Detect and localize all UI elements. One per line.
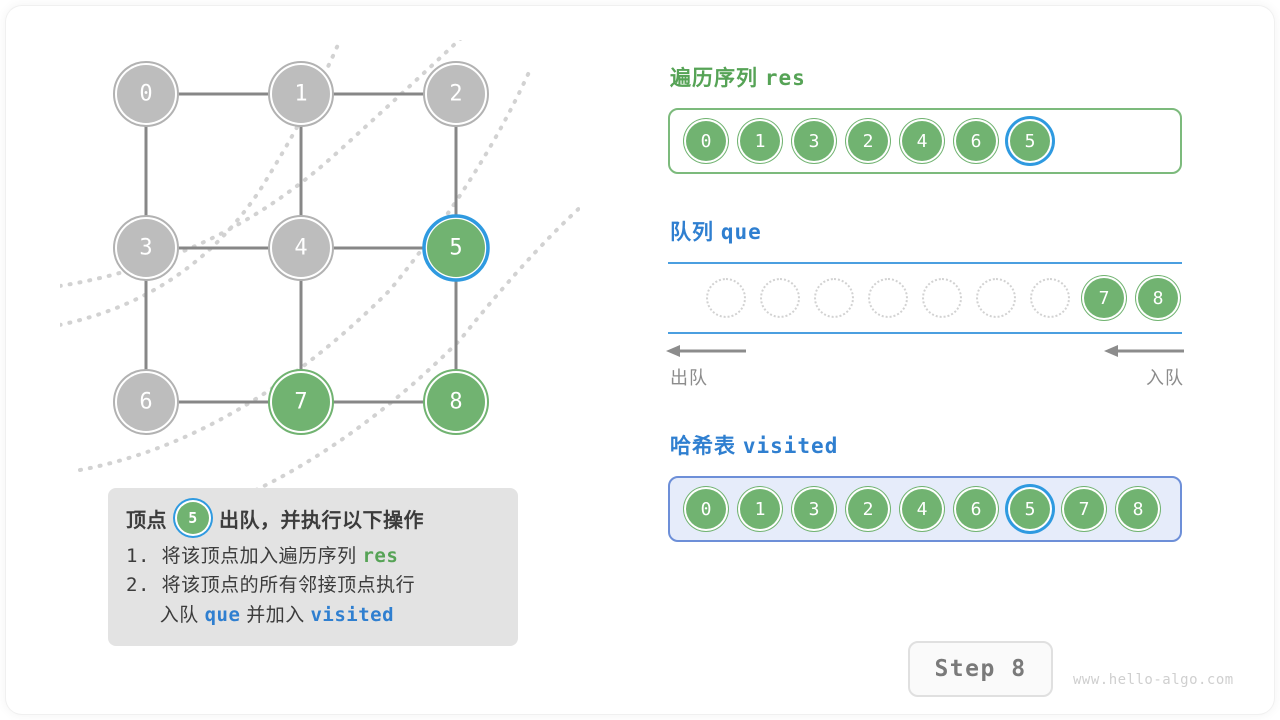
node-chip: 5 bbox=[1010, 121, 1050, 161]
node-chip: 1 bbox=[740, 121, 780, 161]
visited-title-code: visited bbox=[743, 434, 839, 458]
caption-step-2-text: 将该顶点的所有邻接顶点执行 bbox=[162, 575, 416, 596]
node-label: 7 bbox=[294, 390, 307, 415]
arrow-left-icon bbox=[1102, 342, 1186, 360]
caption-step-2: 2. 将该顶点的所有邻接顶点执行 bbox=[126, 571, 500, 600]
queue-section: 队列 que 78 出队 入队 bbox=[668, 216, 1182, 394]
caption-step-2-index: 2. bbox=[126, 574, 150, 596]
node-label: 0 bbox=[139, 82, 152, 107]
queue-empty-slot bbox=[922, 278, 962, 318]
node-label: 2 bbox=[449, 82, 462, 107]
caption-step-2-line2-middle: 并加入 bbox=[246, 605, 305, 626]
graph-node-7: 7 bbox=[269, 370, 333, 434]
arrow-left-icon bbox=[664, 342, 748, 360]
node-chip: 2 bbox=[848, 489, 888, 529]
queue-container: 78 bbox=[668, 262, 1182, 334]
node-chip: 0 bbox=[686, 489, 726, 529]
node-chip: 6 bbox=[956, 489, 996, 529]
page-root: 012345678 顶点 5 出队，并执行以下操作 1. 将该顶点加入遍历序列 … bbox=[0, 0, 1280, 720]
enqueue-label: 入队 bbox=[1096, 364, 1186, 390]
node-chip: 3 bbox=[794, 121, 834, 161]
graph-node-5: 5 bbox=[424, 216, 488, 280]
visited-section-title: 哈希表 visited bbox=[670, 430, 1182, 460]
node-label: 6 bbox=[139, 390, 152, 415]
caption-step-2-line2: 入队 que 并加入 visited bbox=[126, 601, 500, 630]
caption-head-suffix: 出队，并执行以下操作 bbox=[219, 504, 424, 533]
node-chip: 7 bbox=[1084, 278, 1124, 318]
res-title-text: 遍历序列 bbox=[670, 67, 758, 90]
node-label: 3 bbox=[139, 236, 152, 261]
node-chip: 8 bbox=[1118, 489, 1158, 529]
node-label: 4 bbox=[294, 236, 307, 261]
caption-vertex-chip: 5 bbox=[177, 502, 209, 534]
res-title-code: res bbox=[765, 66, 806, 90]
queue-arrows: 出队 入队 bbox=[668, 342, 1182, 394]
queue-empty-slot bbox=[868, 278, 908, 318]
queue-empty-slot bbox=[1030, 278, 1070, 318]
caption-box: 顶点 5 出队，并执行以下操作 1. 将该顶点加入遍历序列 res 2. 将该顶… bbox=[108, 488, 518, 646]
caption-step-2-code-visited: visited bbox=[310, 604, 394, 626]
node-chip: 4 bbox=[902, 489, 942, 529]
caption-step-2-line2-before: 入队 bbox=[160, 605, 199, 626]
res-container: 0132465 bbox=[668, 108, 1182, 174]
node-label: 5 bbox=[449, 236, 462, 261]
queue-empty-slot bbox=[706, 278, 746, 318]
queue-empty-slot bbox=[814, 278, 854, 318]
node-chip: 7 bbox=[1064, 489, 1104, 529]
queue-title-text: 队列 bbox=[670, 221, 714, 244]
node-chip: 0 bbox=[686, 121, 726, 161]
graph-node-3: 3 bbox=[114, 216, 178, 280]
caption-step-1: 1. 将该顶点加入遍历序列 res bbox=[126, 542, 500, 571]
caption-step-1-text: 将该顶点加入遍历序列 bbox=[162, 546, 357, 567]
graph-node-4: 4 bbox=[269, 216, 333, 280]
node-chip: 5 bbox=[1010, 489, 1050, 529]
queue-empty-slot bbox=[760, 278, 800, 318]
watermark: www.hello-algo.com bbox=[1073, 672, 1234, 688]
graph-node-6: 6 bbox=[114, 370, 178, 434]
graph-panel: 012345678 bbox=[60, 40, 580, 490]
node-chip: 6 bbox=[956, 121, 996, 161]
queue-title-code: que bbox=[721, 220, 762, 244]
graph-node-8: 8 bbox=[424, 370, 488, 434]
graph-canvas: 012345678 bbox=[60, 40, 580, 490]
node-label: 8 bbox=[449, 390, 462, 415]
caption-step-2-code-que: que bbox=[205, 604, 241, 626]
graph-node-2: 2 bbox=[424, 62, 488, 126]
enqueue-group: 入队 bbox=[1096, 342, 1186, 390]
caption-head-prefix: 顶点 bbox=[126, 504, 167, 533]
node-chip: 8 bbox=[1138, 278, 1178, 318]
node-chip: 3 bbox=[794, 489, 834, 529]
node-chip: 4 bbox=[902, 121, 942, 161]
visited-section: 哈希表 visited 013246578 bbox=[668, 430, 1182, 542]
queue-section-title: 队列 que bbox=[670, 216, 1182, 246]
graph-node-1: 1 bbox=[269, 62, 333, 126]
visited-container: 013246578 bbox=[668, 476, 1182, 542]
caption-headline: 顶点 5 出队，并执行以下操作 bbox=[126, 502, 500, 534]
graph-nodes: 012345678 bbox=[114, 62, 488, 434]
caption-step-1-code: res bbox=[362, 545, 398, 567]
node-chip: 1 bbox=[740, 489, 780, 529]
step-badge: Step 8 bbox=[908, 641, 1053, 697]
wavefront-curve bbox=[210, 190, 580, 490]
dequeue-group: 出队 bbox=[664, 342, 754, 390]
res-section-title: 遍历序列 res bbox=[670, 62, 1208, 92]
caption-step-1-index: 1. bbox=[126, 545, 150, 567]
right-column: 遍历序列 res 0132465 队列 que 78 出队 bbox=[668, 62, 1208, 542]
visited-title-text: 哈希表 bbox=[670, 435, 736, 458]
queue-empty-slot bbox=[976, 278, 1016, 318]
node-chip: 2 bbox=[848, 121, 888, 161]
node-label: 1 bbox=[294, 82, 307, 107]
dequeue-label: 出队 bbox=[664, 364, 754, 390]
graph-node-0: 0 bbox=[114, 62, 178, 126]
